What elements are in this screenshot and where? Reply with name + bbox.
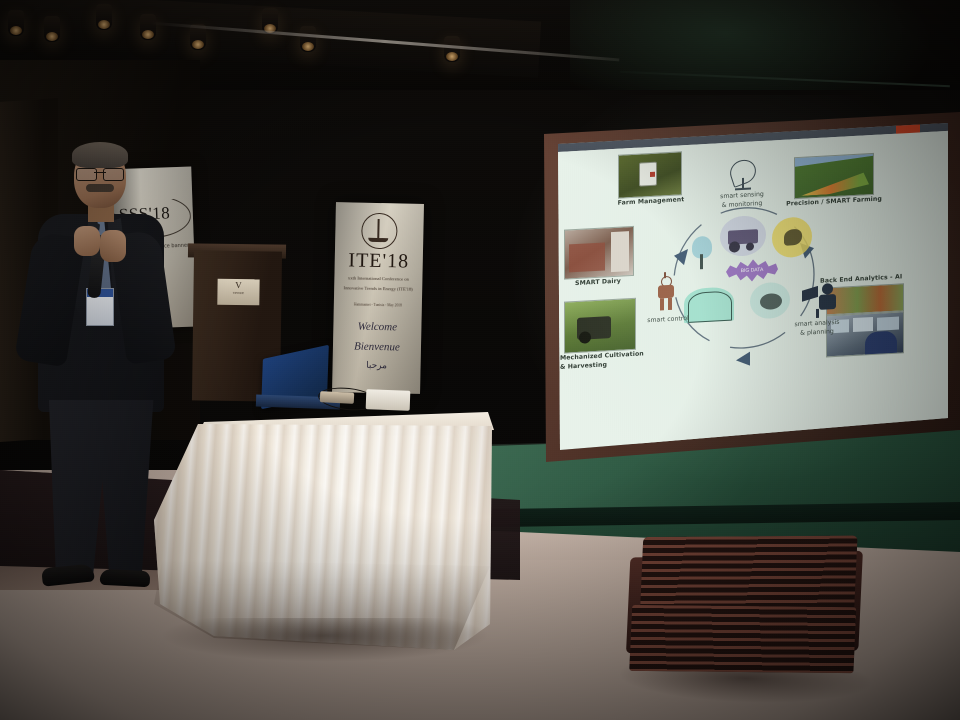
presenter-trousers (42, 400, 158, 576)
stage-light-icon (140, 14, 156, 40)
circular-flow-diagram (666, 186, 822, 370)
presenter-shoe-left (41, 563, 95, 586)
presenter-hand-left (74, 226, 100, 256)
banner-welcome-fr: Bienvenue (333, 340, 421, 354)
power-supply-brick (366, 389, 411, 411)
stage-light-icon (8, 10, 24, 36)
conference-photo-scene: Smart Agriculture Farm Management Precis… (0, 0, 960, 720)
tractor-icon (720, 215, 766, 257)
stage-light-icon (44, 16, 60, 42)
banner-subtitle-1: xxth International Conference on (340, 274, 416, 283)
satellite-dish-icon (728, 159, 760, 191)
pig-icon (750, 281, 790, 319)
glasses-bridge (94, 172, 106, 173)
bench-backrest (640, 536, 858, 611)
flow-arrow-bottom (736, 352, 750, 367)
banner-subtitle-3: Hammamet - Tunisia - May 2018 (342, 302, 414, 308)
podium-plaque: V VENUE (217, 279, 259, 306)
cable-connector (320, 391, 355, 404)
presenter-hand-right (100, 230, 126, 262)
stage-light-icon (300, 26, 316, 52)
thumbnail-mechanized-cultivation (564, 298, 636, 354)
presenter (8, 142, 178, 592)
plaque-initial: V (218, 280, 260, 291)
stage-light-icon (444, 36, 460, 62)
bench-seat (629, 605, 856, 673)
rollup-banner-ite18: ITE'18 xxth International Conference on … (332, 202, 424, 394)
presenter-moustache (86, 184, 114, 192)
slide-body: Farm Management Precision / SMART Farmin… (558, 131, 950, 452)
wooden-bench (623, 531, 862, 693)
presenter-hair (72, 142, 128, 168)
person-at-computer-icon (802, 283, 842, 319)
thumbnail-farm-management (618, 151, 682, 198)
conference-emblem-icon (361, 213, 398, 250)
thumbnail-smart-dairy (564, 226, 634, 280)
rooster-icon (772, 216, 812, 258)
robot-icon (654, 271, 680, 312)
banner-title: ITE'18 (335, 249, 423, 274)
plaque-text: VENUE (217, 291, 259, 296)
presenter-shoe-right (100, 569, 151, 588)
banner-welcome-en: Welcome (333, 320, 421, 334)
glasses-icon (76, 168, 124, 179)
table-floor-shadow (160, 618, 490, 662)
projected-slide: Smart Agriculture Farm Management Precis… (524, 112, 960, 462)
tree-icon (688, 235, 716, 271)
banner-subtitle-2: Innovative Trends in Energy (ITE'18) (340, 284, 416, 293)
banner-welcome-ar: مرحبا (332, 360, 420, 372)
stage-light-icon (96, 4, 112, 30)
